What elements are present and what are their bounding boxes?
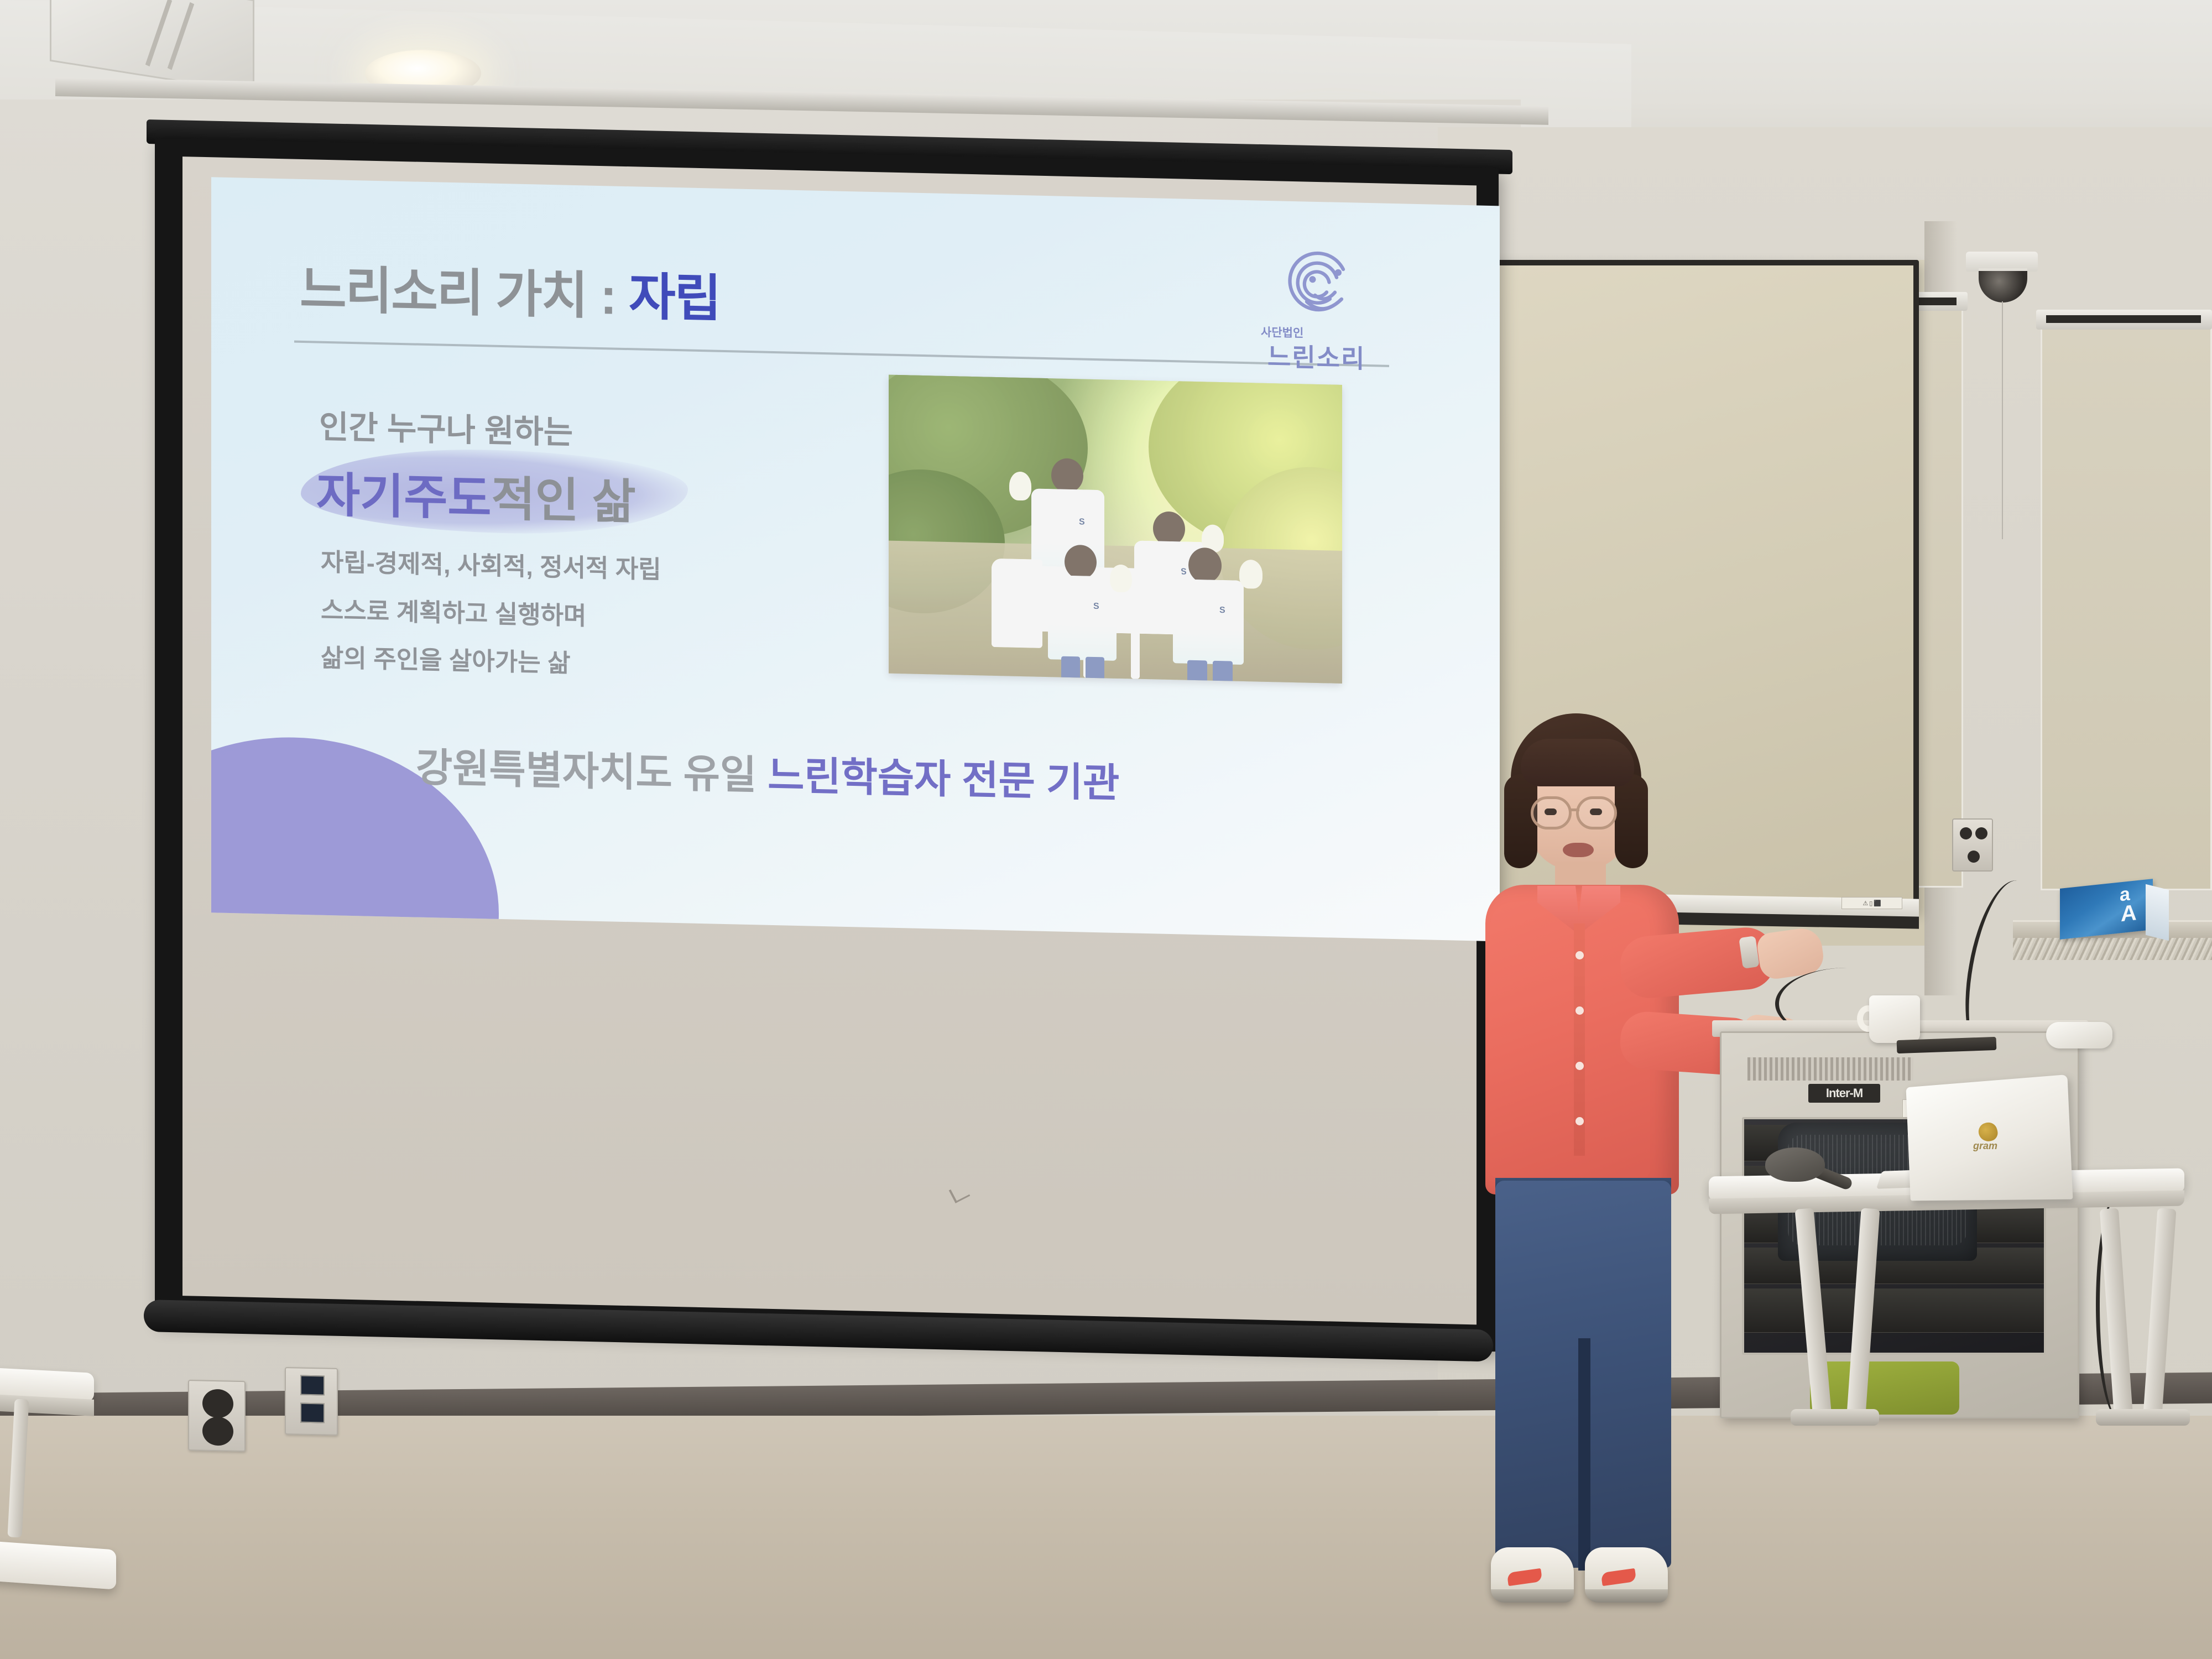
- logo-name: 느린소리: [1267, 337, 1365, 375]
- slide-footer-text: 강원특별자치도 유일 느린학습자 전문 기관: [416, 735, 1119, 808]
- shoe-sole: [1491, 1589, 1574, 1603]
- screen-surface: 느리소리 가치 : 자립: [182, 156, 1477, 1324]
- slide-title-accent: 자립: [629, 269, 720, 327]
- ledge-stone-trim: [2013, 938, 2212, 960]
- presenter-mouth: [1563, 843, 1594, 857]
- shoe-sole: [1585, 1589, 1668, 1603]
- shirt-button: [1575, 1006, 1584, 1015]
- presenter-hair-side-left: [1504, 774, 1537, 868]
- paper-box-label-A: A: [2121, 902, 2137, 924]
- footer-accent-part: 느린학습자 전문 기관: [768, 754, 1119, 806]
- chair-seat: [1810, 1361, 1959, 1415]
- presenter-shoe-left: [1491, 1547, 1574, 1603]
- presenter-shoe-right: [1585, 1547, 1668, 1603]
- presenter-hair-side-right: [1615, 774, 1648, 868]
- slide-title: 느리소리 가치 : 자립: [300, 248, 720, 331]
- projection-screen: 느리소리 가치 : 자립: [155, 138, 1499, 1352]
- desk-foot: [1791, 1409, 1879, 1426]
- headphone-earcup: [1765, 1147, 1825, 1182]
- slide-title-divider: [294, 341, 1389, 367]
- computer-mouse[interactable]: [2046, 1022, 2112, 1048]
- slide-bullet: 삶의 주인을 살아가는 삶: [321, 638, 571, 679]
- presenter-jeans-inseam: [1578, 1338, 1590, 1571]
- blind-slot-right: [2046, 315, 2201, 323]
- camera-cord: [2002, 301, 2003, 539]
- highlight-purple-part: 자기주도: [316, 469, 491, 526]
- floor: [0, 1416, 2212, 1659]
- coffee-mug: [1869, 995, 1920, 1043]
- glasses-bridge: [1571, 808, 1579, 811]
- av-rack-vent: [1747, 1057, 1913, 1081]
- footer-gray-part: 강원특별자치도 유일: [416, 746, 768, 798]
- shirt-button: [1575, 1062, 1584, 1070]
- slide-bullet: 자립-경제적, 사회적, 정서적 자립: [321, 542, 661, 586]
- highlight-gray-part: 적인 삶: [491, 473, 635, 529]
- shoe-swoosh-icon: [1507, 1568, 1543, 1586]
- slide-title-gray: 느리소리 가치 :: [300, 262, 629, 325]
- av-rack-brand-label: Inter-M: [1808, 1084, 1880, 1103]
- board-warning-sticker: ⚠ ▯ ⬛: [1841, 897, 1902, 909]
- paper-box: a A: [2060, 879, 2153, 940]
- paper-box-side: [2146, 884, 2169, 941]
- swirl-smiley-logo-icon: [1279, 239, 1361, 324]
- slide-photo: S S: [889, 375, 1342, 684]
- window-blind-right[interactable]: [2041, 321, 2212, 890]
- presenter-bangs: [1521, 739, 1634, 786]
- projection-screen-assembly: 느리소리 가치 : 자립: [155, 138, 1548, 1394]
- slide-highlight-text: 자기주도적인 삶: [316, 456, 636, 533]
- shoe-swoosh-icon: [1601, 1568, 1637, 1586]
- wall-socket-right[interactable]: [1952, 818, 1993, 872]
- shirt-button: [1575, 1117, 1584, 1125]
- room-scene: a A ⚠ ▯ ⬛ 느리소리 가치 : 자립: [0, 0, 2212, 1659]
- slide-lead-text: 인간 누구나 원하는: [319, 401, 573, 453]
- laptop-brand-text: gram: [1973, 1140, 1997, 1152]
- projected-slide: 느리소리 가치 : 자립: [211, 177, 1500, 941]
- glasses-lens-left-icon: [1531, 796, 1572, 830]
- desk-foot: [2096, 1409, 2190, 1426]
- slide-bullet: 스스로 계획하고 실행하며: [321, 590, 586, 632]
- organization-logo: 사단법인 느린소리: [1251, 239, 1395, 369]
- wall-av-port-panel[interactable]: [285, 1367, 338, 1436]
- shirt-button: [1575, 951, 1584, 959]
- glasses-lens-right-icon: [1576, 796, 1617, 830]
- wall-power-outlet[interactable]: [188, 1380, 246, 1452]
- screen-surface-mark: [949, 1183, 971, 1203]
